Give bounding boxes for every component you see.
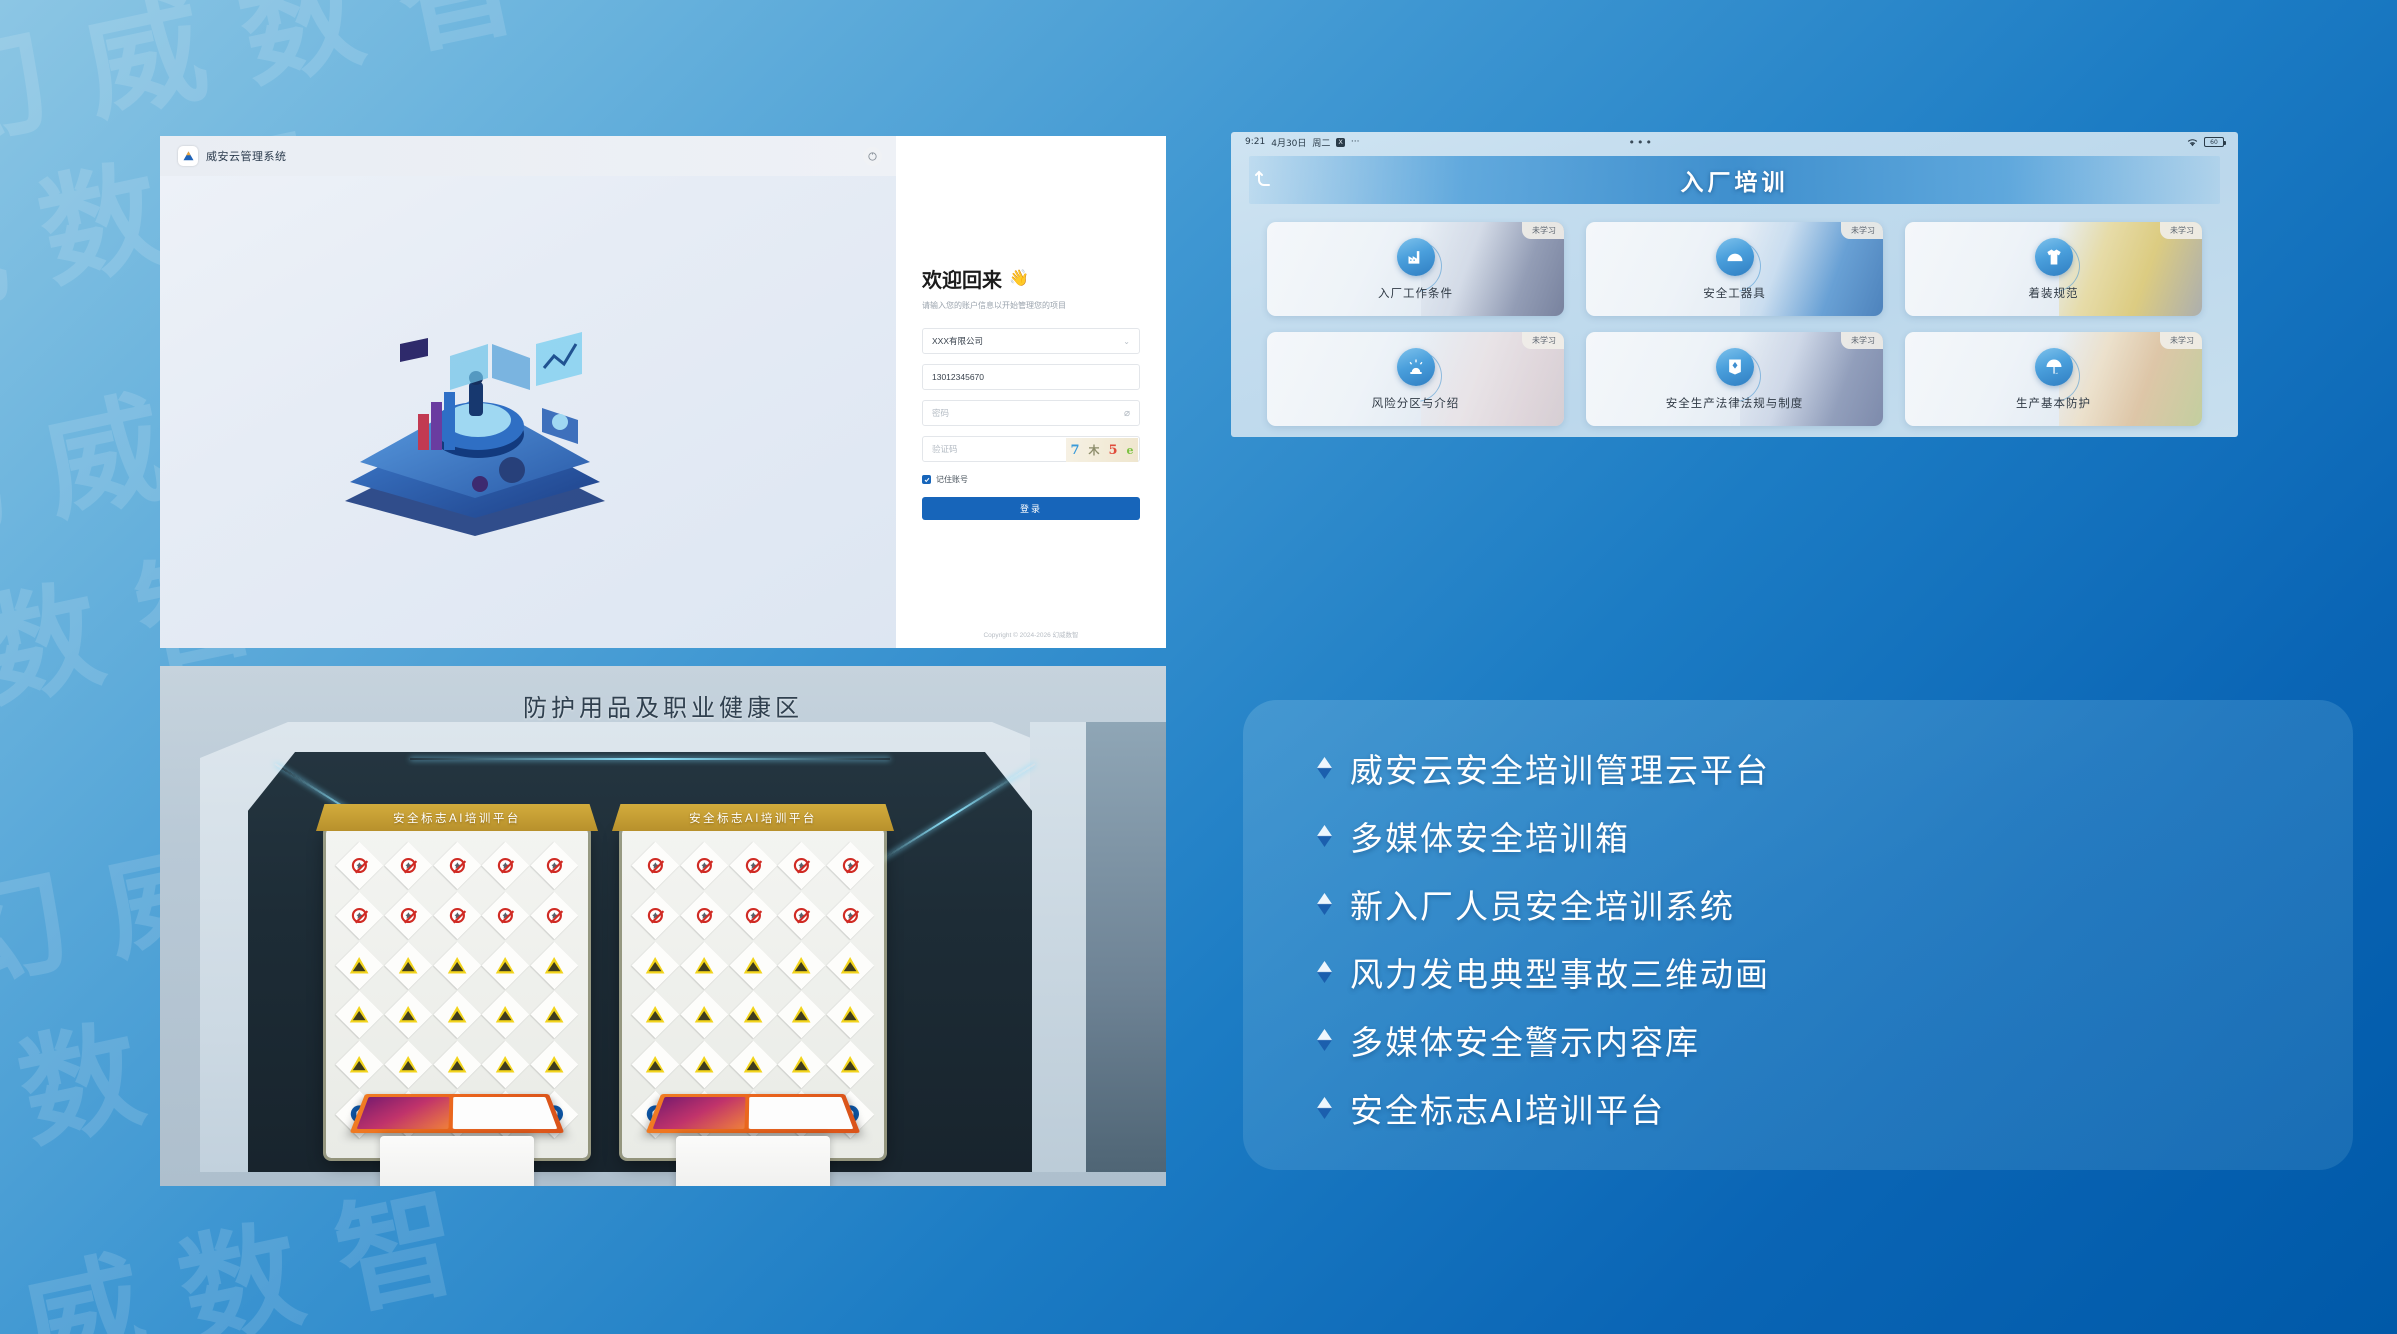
warning-sign bbox=[632, 991, 680, 1039]
login-button[interactable]: 登录 bbox=[922, 497, 1140, 520]
warning-sign bbox=[482, 1041, 530, 1089]
diamond-bullet-icon bbox=[1317, 961, 1332, 983]
board-banner-label: 安全标志AI培训平台 bbox=[612, 804, 894, 831]
safety-sign-grid bbox=[336, 842, 578, 1088]
prohibition-sign bbox=[384, 891, 432, 939]
diamond-bullet-icon bbox=[1317, 1097, 1332, 1119]
prohibition-sign bbox=[384, 842, 432, 890]
warning-sign bbox=[531, 941, 579, 989]
page-title: 入厂培训 bbox=[1681, 163, 1789, 197]
phone-input-value: 13012345670 bbox=[932, 372, 984, 382]
warning-sign bbox=[482, 941, 530, 989]
feature-list-card: 威安云安全培训管理云平台 多媒体安全培训箱 新入厂人员安全培训系统 风力发电典型… bbox=[1243, 700, 2353, 1170]
diamond-bullet-icon bbox=[1317, 757, 1332, 779]
prohibition-sign bbox=[778, 891, 826, 939]
screen-image-area bbox=[357, 1097, 450, 1129]
warning-sign bbox=[680, 941, 728, 989]
warning-sign bbox=[778, 991, 826, 1039]
diamond-bullet-icon bbox=[1317, 893, 1332, 915]
status-badge: 未学习 bbox=[1522, 332, 1564, 349]
prohibition-sign bbox=[729, 842, 777, 890]
status-date: 4月30日 bbox=[1271, 136, 1306, 149]
card-label: 着装规范 bbox=[2029, 285, 2079, 301]
course-card-grid: 未学习 入厂工作条件 未学习 安全工器具 未学习 着装规范 bbox=[1231, 204, 2238, 426]
prohibition-sign bbox=[336, 842, 384, 890]
warning-sign bbox=[827, 941, 875, 989]
password-input[interactable]: 密码 ⌀ bbox=[922, 400, 1140, 426]
safety-sign-grid bbox=[632, 842, 874, 1088]
login-subtitle: 请输入您的账户信息以开始管理您的项目 bbox=[922, 300, 1140, 311]
status-badge: 未学习 bbox=[1841, 332, 1883, 349]
captcha-char: 7 bbox=[1070, 443, 1079, 458]
phone-input[interactable]: 13012345670 bbox=[922, 364, 1140, 390]
kiosk-pedestal: ⚡ 幻威动力 bbox=[380, 1136, 534, 1186]
prohibition-sign bbox=[680, 842, 728, 890]
warning-sign bbox=[729, 941, 777, 989]
prohibition-sign bbox=[336, 891, 384, 939]
feature-list-item: 威安云安全培训管理云平台 bbox=[1317, 744, 2353, 792]
warning-sign bbox=[632, 941, 680, 989]
status-more-icon: ··· bbox=[1351, 137, 1360, 147]
warning-sign bbox=[680, 991, 728, 1039]
company-select-value: XXX有限公司 bbox=[932, 335, 983, 347]
status-right: 60 bbox=[2186, 137, 2224, 148]
welcome-text: 欢迎回来 bbox=[922, 264, 1002, 293]
tablet-training-panel: 9:21 4月30日 周二 X ··· ••• 60 入厂培训 bbox=[1231, 132, 2238, 437]
login-form: 欢迎回来 👋 请输入您的账户信息以开始管理您的项目 XXX有限公司 ⌄ 1301… bbox=[896, 136, 1166, 648]
feature-label: 威安云安全培训管理云平台 bbox=[1350, 744, 1770, 792]
diamond-bullet-icon bbox=[1317, 1029, 1332, 1051]
warning-sign bbox=[433, 1041, 481, 1089]
warning-sign bbox=[336, 1041, 384, 1089]
login-titlebar: 威安云管理系统 bbox=[160, 136, 896, 176]
feature-label: 多媒体安全培训箱 bbox=[1350, 812, 1630, 860]
feature-list-item: 多媒体安全培训箱 bbox=[1317, 812, 2353, 860]
isometric-dashboard-illustration bbox=[310, 286, 640, 536]
status-bar: 9:21 4月30日 周二 X ··· ••• 60 bbox=[1231, 132, 2238, 152]
prohibition-sign bbox=[680, 891, 728, 939]
feature-list-item: 多媒体安全警示内容库 bbox=[1317, 1016, 2353, 1064]
kiosk-pedestal: ⚡ 幻威动力 bbox=[676, 1136, 830, 1186]
prohibition-sign bbox=[827, 842, 875, 890]
warning-sign bbox=[827, 991, 875, 1039]
brand-logo-icon bbox=[178, 146, 198, 166]
captcha-char: 5 bbox=[1108, 443, 1117, 458]
captcha-image[interactable]: 7 木 5 e bbox=[1066, 438, 1138, 462]
ai-sign-training-board[interactable]: 安全标志AI培训平台 bbox=[622, 828, 884, 1158]
prohibition-sign bbox=[531, 891, 579, 939]
warning-sign bbox=[778, 1041, 826, 1089]
battery-icon: 60 bbox=[2204, 137, 2224, 147]
prohibition-sign bbox=[531, 842, 579, 890]
alarm-light-icon bbox=[1397, 348, 1435, 386]
hall-title: 防护用品及职业健康区 bbox=[160, 688, 1166, 723]
feature-list: 威安云安全培训管理云平台 多媒体安全培训箱 新入厂人员安全培训系统 风力发电典型… bbox=[1317, 744, 2353, 1132]
ai-sign-training-board[interactable]: 安全标志AI培训平台 bbox=[326, 828, 588, 1158]
warning-sign bbox=[827, 1041, 875, 1089]
refresh-icon[interactable] bbox=[863, 147, 882, 166]
card-label: 安全生产法律法规与制度 bbox=[1666, 395, 1804, 411]
course-card-basic-protection[interactable]: 未学习 生产基本防护 bbox=[1905, 332, 2202, 426]
captcha-char: e bbox=[1126, 444, 1133, 457]
umbrella-icon bbox=[2035, 348, 2073, 386]
screen-text-area bbox=[749, 1097, 853, 1129]
prohibition-sign bbox=[482, 891, 530, 939]
status-badge: 未学习 bbox=[2160, 222, 2202, 239]
exhibit-hall: 防护用品及职业健康区 安全标志AI培训平台 bbox=[160, 666, 1166, 1186]
touch-screen-display[interactable] bbox=[350, 1094, 565, 1133]
course-card-dress-code[interactable]: 未学习 着装规范 bbox=[1905, 222, 2202, 316]
factory-icon bbox=[1397, 238, 1435, 276]
welcome-heading: 欢迎回来 👋 bbox=[922, 264, 1140, 293]
card-label: 入厂工作条件 bbox=[1378, 285, 1453, 301]
warning-sign bbox=[632, 1041, 680, 1089]
card-label: 安全工器具 bbox=[1703, 285, 1766, 301]
screen-text-area bbox=[453, 1097, 557, 1129]
prohibition-sign bbox=[778, 842, 826, 890]
status-badge: 未学习 bbox=[1522, 222, 1564, 239]
course-card-factory-conditions[interactable]: 未学习 入厂工作条件 bbox=[1267, 222, 1564, 316]
chevron-down-icon: ⌄ bbox=[1123, 337, 1130, 346]
prohibition-sign bbox=[433, 842, 481, 890]
course-card-safety-tools[interactable]: 未学习 安全工器具 bbox=[1586, 222, 1883, 316]
tablet-header: 入厂培训 bbox=[1249, 156, 2220, 204]
warning-sign bbox=[778, 941, 826, 989]
screen-image-area bbox=[653, 1097, 746, 1129]
warning-sign bbox=[680, 1041, 728, 1089]
prohibition-sign bbox=[482, 842, 530, 890]
captcha-char: 木 bbox=[1089, 442, 1100, 458]
warning-sign bbox=[729, 1041, 777, 1089]
prohibition-sign bbox=[632, 842, 680, 890]
login-screenshot-panel: 威安云管理系统 bbox=[160, 136, 1166, 648]
status-weekday: 周二 bbox=[1312, 136, 1330, 149]
remember-account-row[interactable]: 记住账号 bbox=[922, 474, 1140, 485]
course-card-laws-regulations[interactable]: 未学习 安全生产法律法规与制度 bbox=[1586, 332, 1883, 426]
remember-checkbox[interactable] bbox=[922, 475, 931, 484]
copyright-text: Copyright © 2024-2026 幻威数智 bbox=[896, 629, 1166, 639]
feature-list-item: 风力发电典型事故三维动画 bbox=[1317, 948, 2353, 996]
board-banner-label: 安全标志AI培训平台 bbox=[316, 804, 598, 831]
prohibition-sign bbox=[433, 891, 481, 939]
status-center-dots-icon: ••• bbox=[1628, 136, 1653, 149]
feature-label: 多媒体安全警示内容库 bbox=[1350, 1016, 1700, 1064]
warning-sign bbox=[482, 991, 530, 1039]
course-card-risk-zones[interactable]: 未学习 风险分区与介绍 bbox=[1267, 332, 1564, 426]
warning-sign bbox=[384, 991, 432, 1039]
feature-label: 新入厂人员安全培训系统 bbox=[1350, 880, 1735, 928]
exhibit-hall-photo-panel: 防护用品及职业健康区 安全标志AI培训平台 bbox=[160, 666, 1166, 1186]
prohibition-sign bbox=[827, 891, 875, 939]
password-placeholder: 密码 bbox=[932, 407, 949, 419]
login-app-title: 威安云管理系统 bbox=[206, 148, 287, 164]
warning-sign bbox=[531, 991, 579, 1039]
feature-label: 风力发电典型事故三维动画 bbox=[1350, 948, 1770, 996]
warning-sign bbox=[336, 991, 384, 1039]
hall-right-wall bbox=[1086, 722, 1166, 1172]
prohibition-sign bbox=[729, 891, 777, 939]
captcha-input[interactable]: 验证码 7 木 5 e bbox=[922, 436, 1140, 462]
warning-sign bbox=[729, 991, 777, 1039]
prohibition-sign bbox=[632, 891, 680, 939]
status-left: 9:21 4月30日 周二 X ··· bbox=[1245, 136, 1359, 149]
diamond-bullet-icon bbox=[1317, 825, 1332, 847]
warning-sign bbox=[531, 1041, 579, 1089]
warning-sign bbox=[433, 941, 481, 989]
warning-sign bbox=[384, 1041, 432, 1089]
remember-label: 记住账号 bbox=[936, 474, 968, 485]
feature-label: 安全标志AI培训平台 bbox=[1350, 1084, 1665, 1132]
warning-sign bbox=[384, 941, 432, 989]
eye-off-icon[interactable]: ⌀ bbox=[1124, 408, 1130, 419]
status-badge: 未学习 bbox=[1841, 222, 1883, 239]
warning-sign bbox=[433, 991, 481, 1039]
feature-list-item: 新入厂人员安全培训系统 bbox=[1317, 880, 2353, 928]
captcha-placeholder: 验证码 bbox=[932, 443, 958, 455]
uniform-icon bbox=[2035, 238, 2073, 276]
neon-strip bbox=[410, 758, 890, 760]
login-illustration-area: 威安云管理系统 bbox=[160, 136, 896, 648]
wave-hand-icon: 👋 bbox=[1009, 268, 1029, 288]
card-label: 生产基本防护 bbox=[2016, 395, 2091, 411]
status-app-badge-icon: X bbox=[1336, 138, 1344, 147]
wifi-icon bbox=[2186, 137, 2199, 148]
touch-screen-display[interactable] bbox=[646, 1094, 861, 1133]
card-label: 风险分区与介绍 bbox=[1372, 395, 1460, 411]
book-icon bbox=[1716, 348, 1754, 386]
status-time: 9:21 bbox=[1245, 137, 1265, 147]
helmet-icon bbox=[1716, 238, 1754, 276]
back-arrow-icon[interactable] bbox=[1247, 162, 1281, 196]
status-badge: 未学习 bbox=[2160, 332, 2202, 349]
warning-sign bbox=[336, 941, 384, 989]
feature-list-item: 安全标志AI培训平台 bbox=[1317, 1084, 2353, 1132]
company-select[interactable]: XXX有限公司 ⌄ bbox=[922, 328, 1140, 354]
hall-right-panel bbox=[1030, 722, 1086, 1172]
